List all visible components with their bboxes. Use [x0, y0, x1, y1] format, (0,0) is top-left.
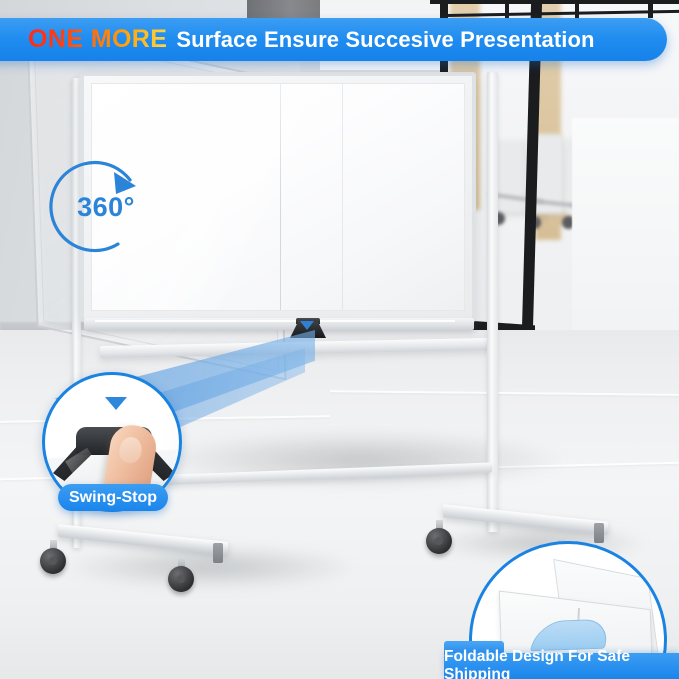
caster-hub: [435, 537, 443, 545]
rotation-callout: 360°: [42, 156, 162, 260]
swing-stop-label-pill: Swing-Stop: [58, 484, 168, 511]
foldable-label-bar: Foldable Design For Safe Shipping: [444, 653, 679, 679]
rotation-label: 360°: [56, 192, 156, 223]
ceiling-rail: [648, 0, 653, 18]
surface-reflection-line: [342, 84, 343, 310]
headline-text: Surface Ensure Succesive Presentation: [176, 27, 594, 53]
ceiling-rail: [430, 0, 679, 4]
product-marketing-image: 360° Swing-Stop Foldable Design For Safe…: [0, 0, 679, 679]
ceiling-rail: [505, 0, 509, 20]
caster-wheel: [40, 548, 66, 574]
down-triangle-icon: [105, 397, 127, 410]
headline-banner-inner: ONE MORE Surface Ensure Succesive Presen…: [0, 25, 595, 54]
left-base-end-cap: [213, 543, 223, 563]
caster-wheel: [426, 528, 452, 554]
caster-hub: [177, 575, 185, 583]
headline-highlight: ONE MORE: [28, 25, 167, 54]
right-base-end-cap: [594, 523, 604, 543]
marker-tray-highlight: [95, 320, 455, 322]
surface-reflection-line: [280, 84, 281, 310]
caster-hub: [49, 557, 57, 565]
headline-banner: ONE MORE Surface Ensure Succesive Presen…: [0, 18, 667, 61]
swing-stop-device-arrow-icon: [300, 321, 314, 330]
ceiling-rail: [575, 0, 579, 20]
caster-wheel: [168, 566, 194, 592]
fingernail: [118, 435, 144, 464]
